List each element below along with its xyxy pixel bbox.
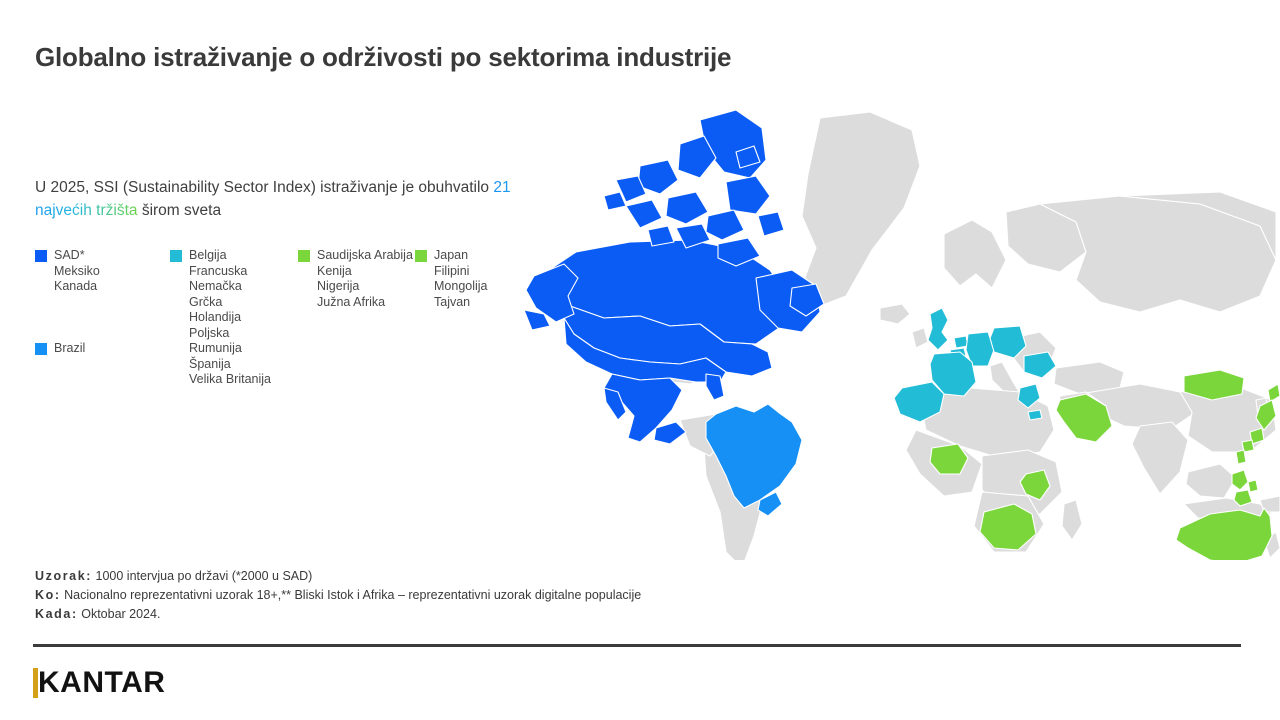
legend-country: SAD* — [54, 248, 100, 264]
legend-country: Nigerija — [317, 279, 413, 295]
footnotes: Uzorak: 1000 intervjua po državi (*2000 … — [35, 567, 641, 624]
legend-country: Južna Afrika — [317, 295, 413, 311]
infographic-page: Globalno istraživanje o održivosti po se… — [0, 0, 1280, 720]
legend-country: Francuska — [189, 264, 271, 280]
legend-group-africa-middle-east: Saudijska Arabija Kenija Nigerija Južna … — [298, 248, 418, 310]
legend-country: Saudijska Arabija — [317, 248, 413, 264]
legend-column-1-extra: Brazil — [35, 341, 165, 357]
subtitle-before: U 2025, SSI (Sustainability Sector Index… — [35, 179, 493, 196]
legend-column-3: Saudijska Arabija Kenija Nigerija Južna … — [298, 248, 418, 310]
legend-swatch-green-icon — [415, 250, 427, 262]
footnote-text: Oktobar 2024. — [81, 607, 160, 621]
logo-text: KANTAR — [38, 666, 165, 700]
world-map — [520, 100, 1280, 560]
legend-country: Rumunija — [189, 341, 271, 357]
legend-names-2: Belgija Francuska Nemačka Grčka Holandij… — [189, 248, 271, 388]
footnote-label: Kada: — [35, 607, 78, 621]
legend-column-1: SAD* Meksiko Kanada — [35, 248, 165, 295]
legend-country: Poljska — [189, 326, 271, 342]
legend-names-4: Japan Filipini Mongolija Tajvan — [434, 248, 488, 310]
legend-country: Španija — [189, 357, 271, 373]
legend-country: Japan — [434, 248, 488, 264]
legend-group-brazil: Brazil — [35, 341, 165, 357]
footnote-when: Kada: Oktobar 2024. — [35, 605, 641, 624]
map-region-blue — [524, 110, 824, 444]
legend-group-asia-pacific: Japan Filipini Mongolija Tajvan — [415, 248, 525, 310]
legend-country: Brazil — [54, 341, 85, 357]
kantar-logo: KANTAR — [33, 666, 165, 700]
page-title: Globalno istraživanje o održivosti po se… — [35, 42, 731, 73]
legend-country: Meksiko — [54, 264, 100, 280]
footnote-label: Uzorak: — [35, 569, 92, 583]
legend-country: Kanada — [54, 279, 100, 295]
footnote-who: Ko: Nacionalno reprezentativni uzorak 18… — [35, 586, 641, 605]
subtitle-after: širom sveta — [138, 202, 222, 219]
legend-country: Mongolija — [434, 279, 488, 295]
legend-group-north-america: SAD* Meksiko Kanada — [35, 248, 165, 295]
footnote-sample: Uzorak: 1000 intervjua po državi (*2000 … — [35, 567, 641, 586]
footnote-text: 1000 intervjua po državi (*2000 u SAD) — [96, 569, 313, 583]
legend-country: Grčka — [189, 295, 271, 311]
subtitle: U 2025, SSI (Sustainability Sector Index… — [35, 176, 555, 222]
legend-swatch-blue-icon — [35, 250, 47, 262]
legend-swatch-blue-light-icon — [35, 343, 47, 355]
footer-divider — [33, 644, 1241, 647]
legend-swatch-cyan-icon — [170, 250, 182, 262]
legend-country: Nemačka — [189, 279, 271, 295]
legend-country: Holandija — [189, 310, 271, 326]
legend-country: Tajvan — [434, 295, 488, 311]
legend-names-3: Saudijska Arabija Kenija Nigerija Južna … — [317, 248, 413, 310]
legend-country: Velika Britanija — [189, 372, 271, 388]
legend-column-2: Belgija Francuska Nemačka Grčka Holandij… — [170, 248, 295, 388]
legend-country: Kenija — [317, 264, 413, 280]
legend-swatch-green-icon — [298, 250, 310, 262]
legend-names-extra: Brazil — [54, 341, 85, 357]
legend-country: Belgija — [189, 248, 271, 264]
legend-column-4: Japan Filipini Mongolija Tajvan — [415, 248, 525, 310]
footnote-label: Ko: — [35, 588, 61, 602]
footnote-text: Nacionalno reprezentativni uzorak 18+,**… — [64, 588, 641, 602]
legend-group-europe: Belgija Francuska Nemačka Grčka Holandij… — [170, 248, 295, 388]
legend-country: Filipini — [434, 264, 488, 280]
legend-names-1: SAD* Meksiko Kanada — [54, 248, 100, 295]
